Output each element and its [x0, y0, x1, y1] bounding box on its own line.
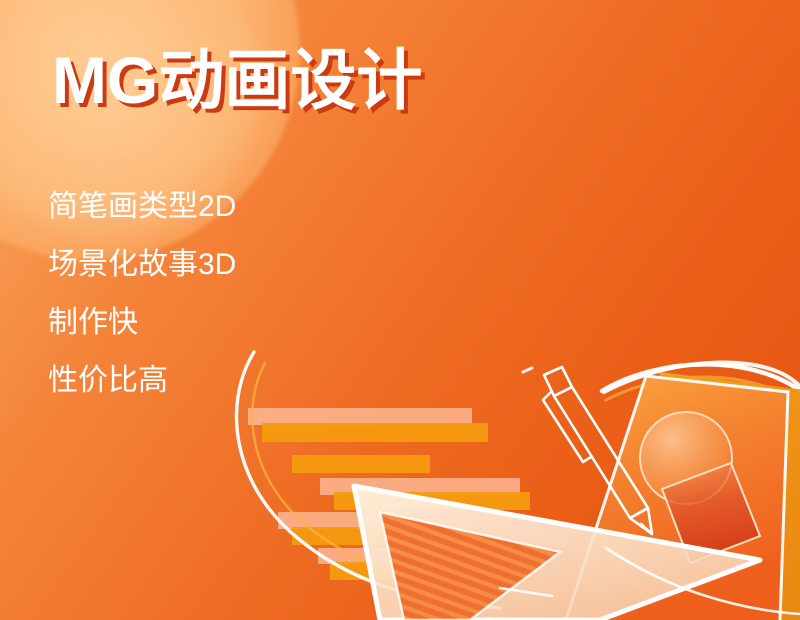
promo-banner: MG动画设计 简笔画类型2D 场景化故事3D 制作快 性价比高 — [0, 0, 800, 620]
laptop-outline — [354, 486, 760, 620]
sweep-curve-top — [602, 364, 800, 400]
paper-shapes-group — [640, 412, 760, 563]
accent-tick — [523, 368, 532, 372]
laptop-keyboard — [380, 512, 560, 620]
paper-outline-left — [566, 376, 646, 620]
pen-barrel — [554, 387, 648, 518]
decorative-bar — [292, 455, 430, 473]
feature-item: 场景化故事3D — [48, 236, 378, 294]
decorative-bar — [292, 527, 412, 545]
laptop-body — [354, 486, 760, 620]
pen-clip — [543, 392, 591, 462]
feature-list: 简笔画类型2D 场景化故事3D 制作快 性价比高 — [48, 178, 378, 410]
decorative-bar — [318, 548, 416, 564]
pen-nib — [641, 524, 652, 534]
paper-face — [566, 376, 788, 620]
tilted-paper — [566, 372, 800, 620]
corner-accent-curve — [606, 548, 800, 614]
sweep-curve-group — [602, 364, 800, 408]
page-title: MG动画设计 — [52, 47, 422, 113]
pen — [543, 367, 652, 534]
paper-outline — [646, 376, 788, 620]
decorative-bar — [278, 512, 396, 529]
paper-edge — [610, 372, 800, 620]
paper-top-sweep — [604, 362, 800, 396]
laptop-keyboard-outline — [380, 512, 560, 620]
decorative-bar — [330, 562, 426, 580]
pen-cap — [544, 367, 572, 396]
pen-tip — [630, 508, 652, 534]
circle-shape — [640, 412, 732, 504]
feature-item: 简笔画类型2D — [48, 178, 378, 236]
feature-item: 性价比高 — [48, 352, 378, 410]
decorative-bar — [334, 492, 530, 510]
feature-item: 制作快 — [48, 294, 378, 352]
rectangle-shape — [662, 463, 760, 563]
decorative-bar — [248, 408, 472, 425]
decorative-bar — [320, 478, 520, 495]
decorative-bar — [262, 423, 488, 442]
laptop-trackpad — [500, 588, 552, 596]
laptop-base — [354, 486, 760, 620]
sweep-curve-top-amber — [606, 377, 800, 408]
